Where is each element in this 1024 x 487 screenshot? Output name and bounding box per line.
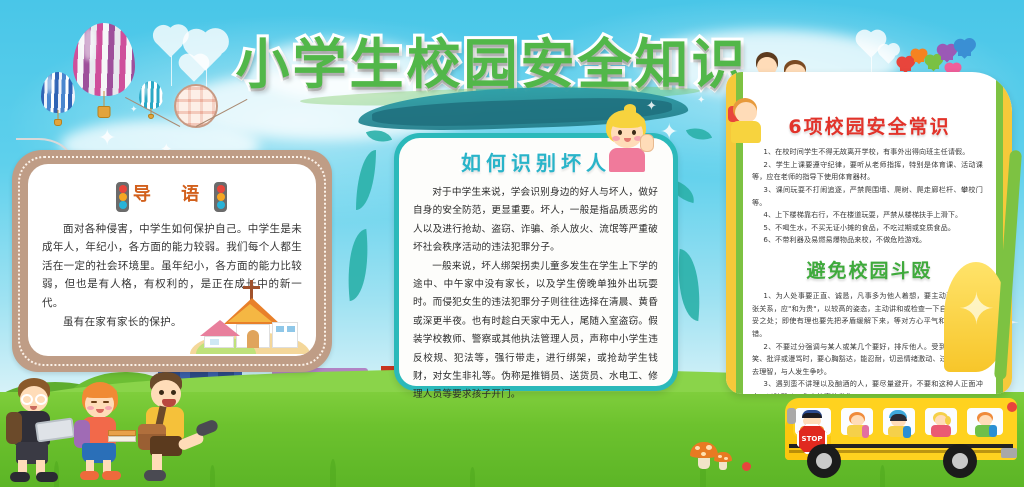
backpack (6, 412, 22, 444)
thumbs-up-icon (640, 134, 654, 152)
church-illustration (190, 280, 310, 354)
sparkle-icon: ✦ (98, 128, 116, 150)
cheek (105, 406, 112, 410)
bus-bumper (1001, 448, 1017, 458)
bus-passenger (973, 412, 997, 436)
heart-balloon-white (185, 60, 203, 78)
eye (171, 390, 176, 395)
safety-section1-list: 1、在校时间学生不得无故离开学校，有事外出得向班主任请假。 2、学生上课要遵守纪… (752, 146, 983, 247)
bus-passenger (929, 412, 953, 436)
house-wall (204, 336, 234, 348)
eye (618, 130, 622, 135)
glasses-icon (21, 394, 33, 405)
church-cross-icon (250, 280, 253, 300)
hot-air-balloon-blue (41, 72, 75, 124)
identify-paragraph: 一般来说，坏人绑架拐卖儿童多发生在学生上下学的途中、中午家中没有家长，以及学生傍… (413, 258, 658, 405)
bus-light (1007, 402, 1017, 412)
bangs (609, 114, 645, 128)
heart-balloon-white (882, 48, 895, 61)
list-item: 1、在校时间学生不得无故离开学校，有事外出得向班主任请假。 (752, 146, 983, 159)
grass-blade (470, 467, 475, 487)
shoe (80, 471, 99, 480)
safety-section1-title: 6项校园安全常识 (746, 112, 993, 139)
student-boy-running (134, 372, 220, 484)
window (276, 326, 284, 332)
shoulder-bag-flap (138, 424, 166, 434)
bangs (83, 386, 117, 398)
sparkle-icon: ✦ (958, 288, 995, 332)
heart-balloon-red (900, 60, 911, 71)
books (108, 436, 136, 442)
eye (159, 390, 164, 395)
sparkle-icon: ✦ (646, 100, 657, 113)
heart-balloon-purple (941, 48, 953, 60)
intro-panel-title: 导 语 (28, 180, 316, 206)
traffic-light-icon (116, 182, 129, 212)
traffic-light-icon (214, 182, 227, 212)
panel-content: 导 语 面对各种侵害，中学生如何保护自己。中学生是未成年人，年纪小，各方面的能力… (28, 164, 316, 356)
cartoon-girl-thumbsup: ✦ (600, 104, 658, 176)
eye (103, 401, 109, 403)
shoe (195, 418, 220, 437)
identify-paragraph: 对于中学生来说，学会识别身边的好人与坏人，做好自身的安全防范，更显重要。坏人，一… (413, 184, 658, 258)
poster-title-banner: 小学生校园安全知识 (222, 28, 762, 90)
small-flower (742, 462, 751, 471)
hot-air-balloon-pink (73, 23, 135, 117)
window (210, 339, 219, 345)
mushroom-icon (714, 452, 732, 469)
poster-canvas: ✦ ✦ ✦ ✦ ✦ ✦ ✦ ✦ (0, 0, 1024, 487)
bus-wheel (807, 444, 841, 478)
window (287, 326, 295, 332)
glasses-icon (35, 394, 47, 405)
bus-mirror (787, 408, 796, 424)
intro-panel: 导 语 面对各种侵害，中学生如何保护自己。中学生是未成年人，年纪小，各方面的能力… (12, 150, 332, 372)
shoe (10, 472, 30, 482)
shoe (102, 471, 121, 480)
cartoon-girl-rightpanel (726, 98, 766, 146)
list-item: 6、不带利器及易燃易爆物品来校，不做危险游戏。 (752, 234, 983, 247)
shoe (36, 472, 58, 482)
bus-wheel (943, 444, 977, 478)
house-roof (200, 320, 240, 336)
cheek (87, 406, 94, 410)
shorts (150, 436, 182, 456)
heart-balloon-green (928, 58, 939, 69)
shoe (144, 470, 166, 481)
heart-balloon-orange (914, 52, 924, 62)
identify-panel-body: 对于中学生来说，学会识别身边的好人与坏人，做好自身的安全防范，更显重要。坏人，一… (413, 184, 658, 405)
student-girl-books (70, 382, 142, 482)
bus-passenger (887, 410, 911, 436)
plaid-circle-decoration (174, 84, 218, 128)
list-item: 4、上下楼梯靠右行，不在楼道玩耍，严禁从楼梯扶手上滑下。 (752, 209, 983, 222)
cheek (612, 136, 620, 141)
list-item: 2、学生上课要遵守纪律，要听从老师指挥，特别是体育课、活动课等，应在老师的指导下… (752, 159, 983, 184)
list-item: 3、课间玩耍不打闹追逐，严禁爬围墙、爬树、爬走廊栏杆、攀校门等。 (752, 184, 983, 209)
school-bus: STOP (785, 390, 1017, 478)
eye (632, 130, 636, 135)
bus-passenger (845, 412, 869, 436)
shirt (609, 148, 645, 172)
eye (91, 401, 97, 403)
heart-balloon-white (160, 32, 181, 53)
grass-blade (330, 459, 336, 487)
heart-balloon-blue (958, 43, 971, 56)
church-cross-icon (243, 286, 260, 289)
list-item: 5、不喝生水，不买无证小摊的食品，不吃过期或变质食品。 (752, 222, 983, 235)
church-door (247, 330, 259, 348)
